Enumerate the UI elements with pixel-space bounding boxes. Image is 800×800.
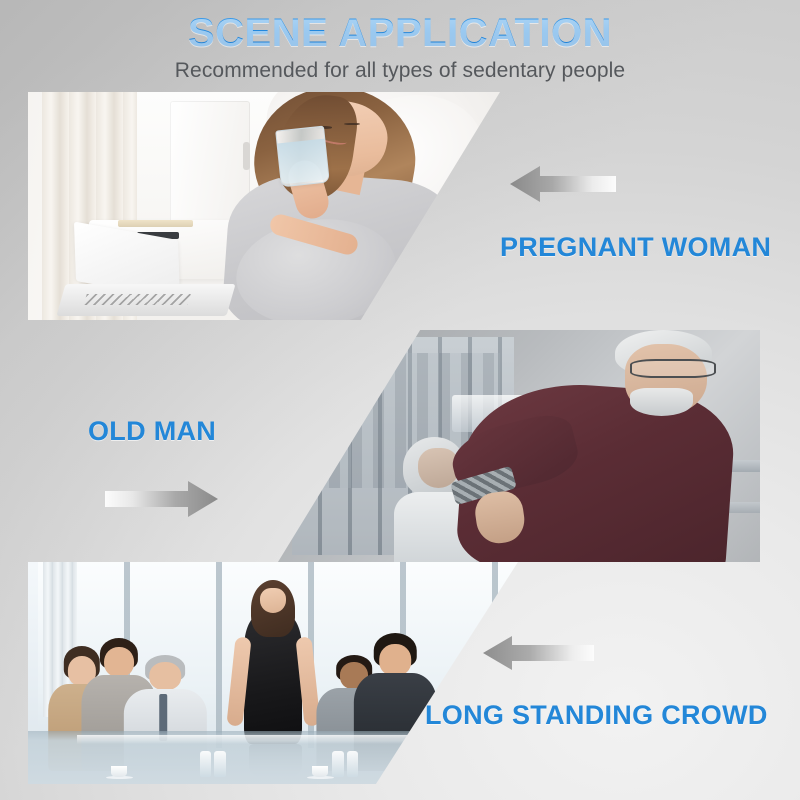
scene-long-standing-crowd: LONG STANDING CROWD — [0, 0, 800, 800]
scene-label-long-standing-crowd: LONG STANDING CROWD — [425, 702, 768, 729]
page-title: SCENE APPLICATION — [0, 12, 800, 54]
arrow-left-icon — [481, 630, 768, 676]
scene-application-poster: SCENE APPLICATION Recommended for all ty… — [0, 0, 800, 800]
photo-artwork — [28, 562, 518, 784]
poster-header: SCENE APPLICATION Recommended for all ty… — [0, 12, 800, 84]
scene-photo-long-standing-crowd — [28, 562, 518, 784]
page-subtitle: Recommended for all types of sedentary p… — [0, 58, 800, 83]
callout-long-standing-crowd: LONG STANDING CROWD — [455, 630, 768, 729]
